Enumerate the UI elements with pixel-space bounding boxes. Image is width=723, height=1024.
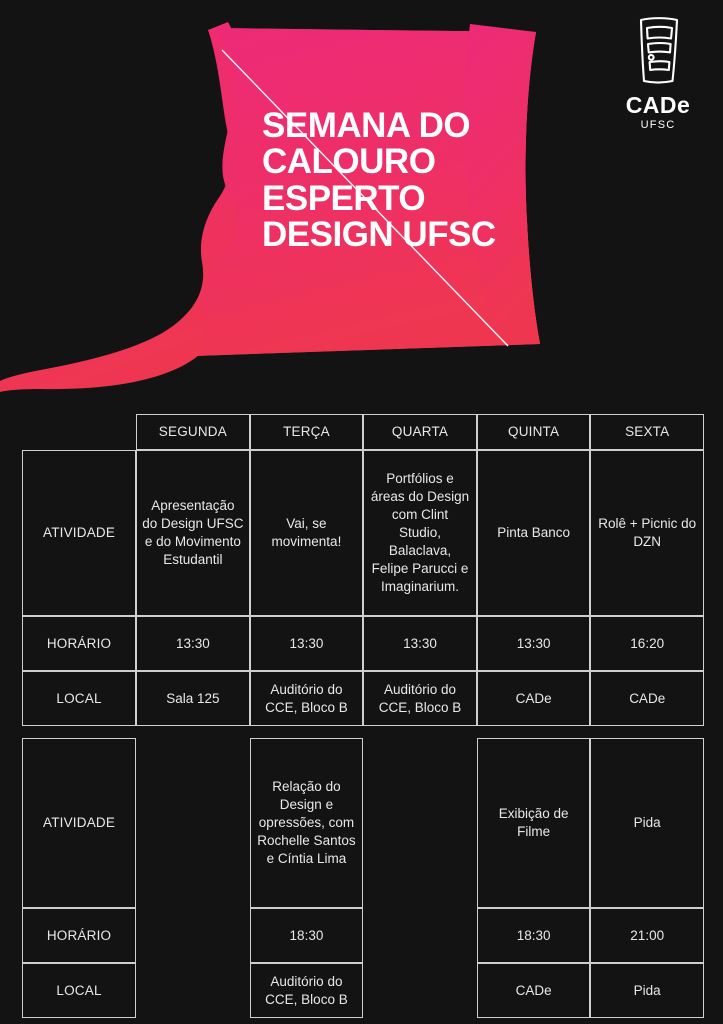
title-line-2: CALOURO bbox=[262, 144, 562, 180]
day-header-quarta: QUARTA bbox=[363, 414, 477, 450]
cell-time1-sexta: 16:20 bbox=[590, 616, 704, 671]
cell-time1-quarta: 13:30 bbox=[363, 616, 477, 671]
table-row-time-1: HORÁRIO 13:30 13:30 13:30 13:30 16:20 bbox=[22, 616, 704, 671]
cell-place1-terca: Auditório do CCE, Bloco B bbox=[250, 671, 364, 726]
row-label-time-2: HORÁRIO bbox=[22, 908, 136, 963]
table-row-place-2: LOCAL Auditório do CCE, Bloco B CADe Pid… bbox=[22, 963, 704, 1018]
day-header-sexta: SEXTA bbox=[590, 414, 704, 450]
header-corner-cell bbox=[22, 414, 136, 450]
cell-activity2-segunda bbox=[136, 738, 250, 908]
cade-logo: CADe UFSC bbox=[615, 14, 701, 131]
cell-time2-quarta bbox=[363, 908, 477, 963]
table-row-time-2: HORÁRIO 18:30 18:30 21:00 bbox=[22, 908, 704, 963]
cell-time2-sexta: 21:00 bbox=[590, 908, 704, 963]
cell-place2-segunda bbox=[136, 963, 250, 1018]
logo-subwordmark: UFSC bbox=[615, 120, 701, 131]
row-label-place-1: LOCAL bbox=[22, 671, 136, 726]
table-row-place-1: LOCAL Sala 125 Auditório do CCE, Bloco B… bbox=[22, 671, 704, 726]
cell-place1-quinta: CADe bbox=[477, 671, 591, 726]
row-label-time-1: HORÁRIO bbox=[22, 616, 136, 671]
cell-place2-sexta: Pida bbox=[590, 963, 704, 1018]
cell-place1-sexta: CADe bbox=[590, 671, 704, 726]
cell-time1-terca: 13:30 bbox=[250, 616, 364, 671]
table-row-activity-1: ATIVIDADE Apresentação do Design UFSC e … bbox=[22, 450, 704, 616]
schedule-table: SEGUNDA TERÇA QUARTA QUINTA SEXTA ATIVID… bbox=[22, 414, 704, 1018]
cell-time1-segunda: 13:30 bbox=[136, 616, 250, 671]
cell-place2-quarta bbox=[363, 963, 477, 1018]
cell-place2-quinta: CADe bbox=[477, 963, 591, 1018]
cell-activity1-quinta: Pinta Banco bbox=[477, 450, 591, 616]
cell-activity2-sexta: Pida bbox=[590, 738, 704, 908]
day-header-quinta: QUINTA bbox=[477, 414, 591, 450]
cell-time1-quinta: 13:30 bbox=[477, 616, 591, 671]
title-line-1: SEMANA DO bbox=[262, 108, 562, 144]
row-label-place-2: LOCAL bbox=[22, 963, 136, 1018]
table-header-row: SEGUNDA TERÇA QUARTA QUINTA SEXTA bbox=[22, 414, 704, 450]
row-label-activity-1: ATIVIDADE bbox=[22, 450, 136, 616]
cell-time2-terca: 18:30 bbox=[250, 908, 364, 963]
cell-time2-quinta: 18:30 bbox=[477, 908, 591, 963]
cell-activity1-segunda: Apresentação do Design UFSC e do Movimen… bbox=[136, 450, 250, 616]
table-row-activity-2: ATIVIDADE Relação do Design e opressões,… bbox=[22, 738, 704, 908]
title-line-3: ESPERTO bbox=[262, 181, 562, 217]
page-title: SEMANA DO CALOURO ESPERTO DESIGN UFSC bbox=[262, 108, 562, 254]
cell-activity2-quarta bbox=[363, 738, 477, 908]
day-header-segunda: SEGUNDA bbox=[136, 414, 250, 450]
cell-activity1-quarta: Portfólios e áreas do Design com Clint S… bbox=[363, 450, 477, 616]
cell-activity2-quinta: Exibição de Filme bbox=[477, 738, 591, 908]
table-block-gap bbox=[22, 726, 704, 738]
logo-wordmark: CADe bbox=[615, 94, 701, 117]
cell-activity1-sexta: Rolê + Picnic do DZN bbox=[590, 450, 704, 616]
cell-activity1-terca: Vai, se movimenta! bbox=[250, 450, 364, 616]
cell-place2-terca: Auditório do CCE, Bloco B bbox=[250, 963, 364, 1018]
cell-activity2-terca: Relação do Design e opressões, com Roche… bbox=[250, 738, 364, 908]
cell-place1-segunda: Sala 125 bbox=[136, 671, 250, 726]
cell-place1-quarta: Auditório do CCE, Bloco B bbox=[363, 671, 477, 726]
row-label-activity-2: ATIVIDADE bbox=[22, 738, 136, 908]
hero-banner: SEMANA DO CALOURO ESPERTO DESIGN UFSC CA… bbox=[0, 0, 723, 420]
title-line-4: DESIGN UFSC bbox=[262, 217, 562, 253]
cade-tower-icon bbox=[615, 14, 701, 93]
cell-time2-segunda bbox=[136, 908, 250, 963]
day-header-terca: TERÇA bbox=[250, 414, 364, 450]
